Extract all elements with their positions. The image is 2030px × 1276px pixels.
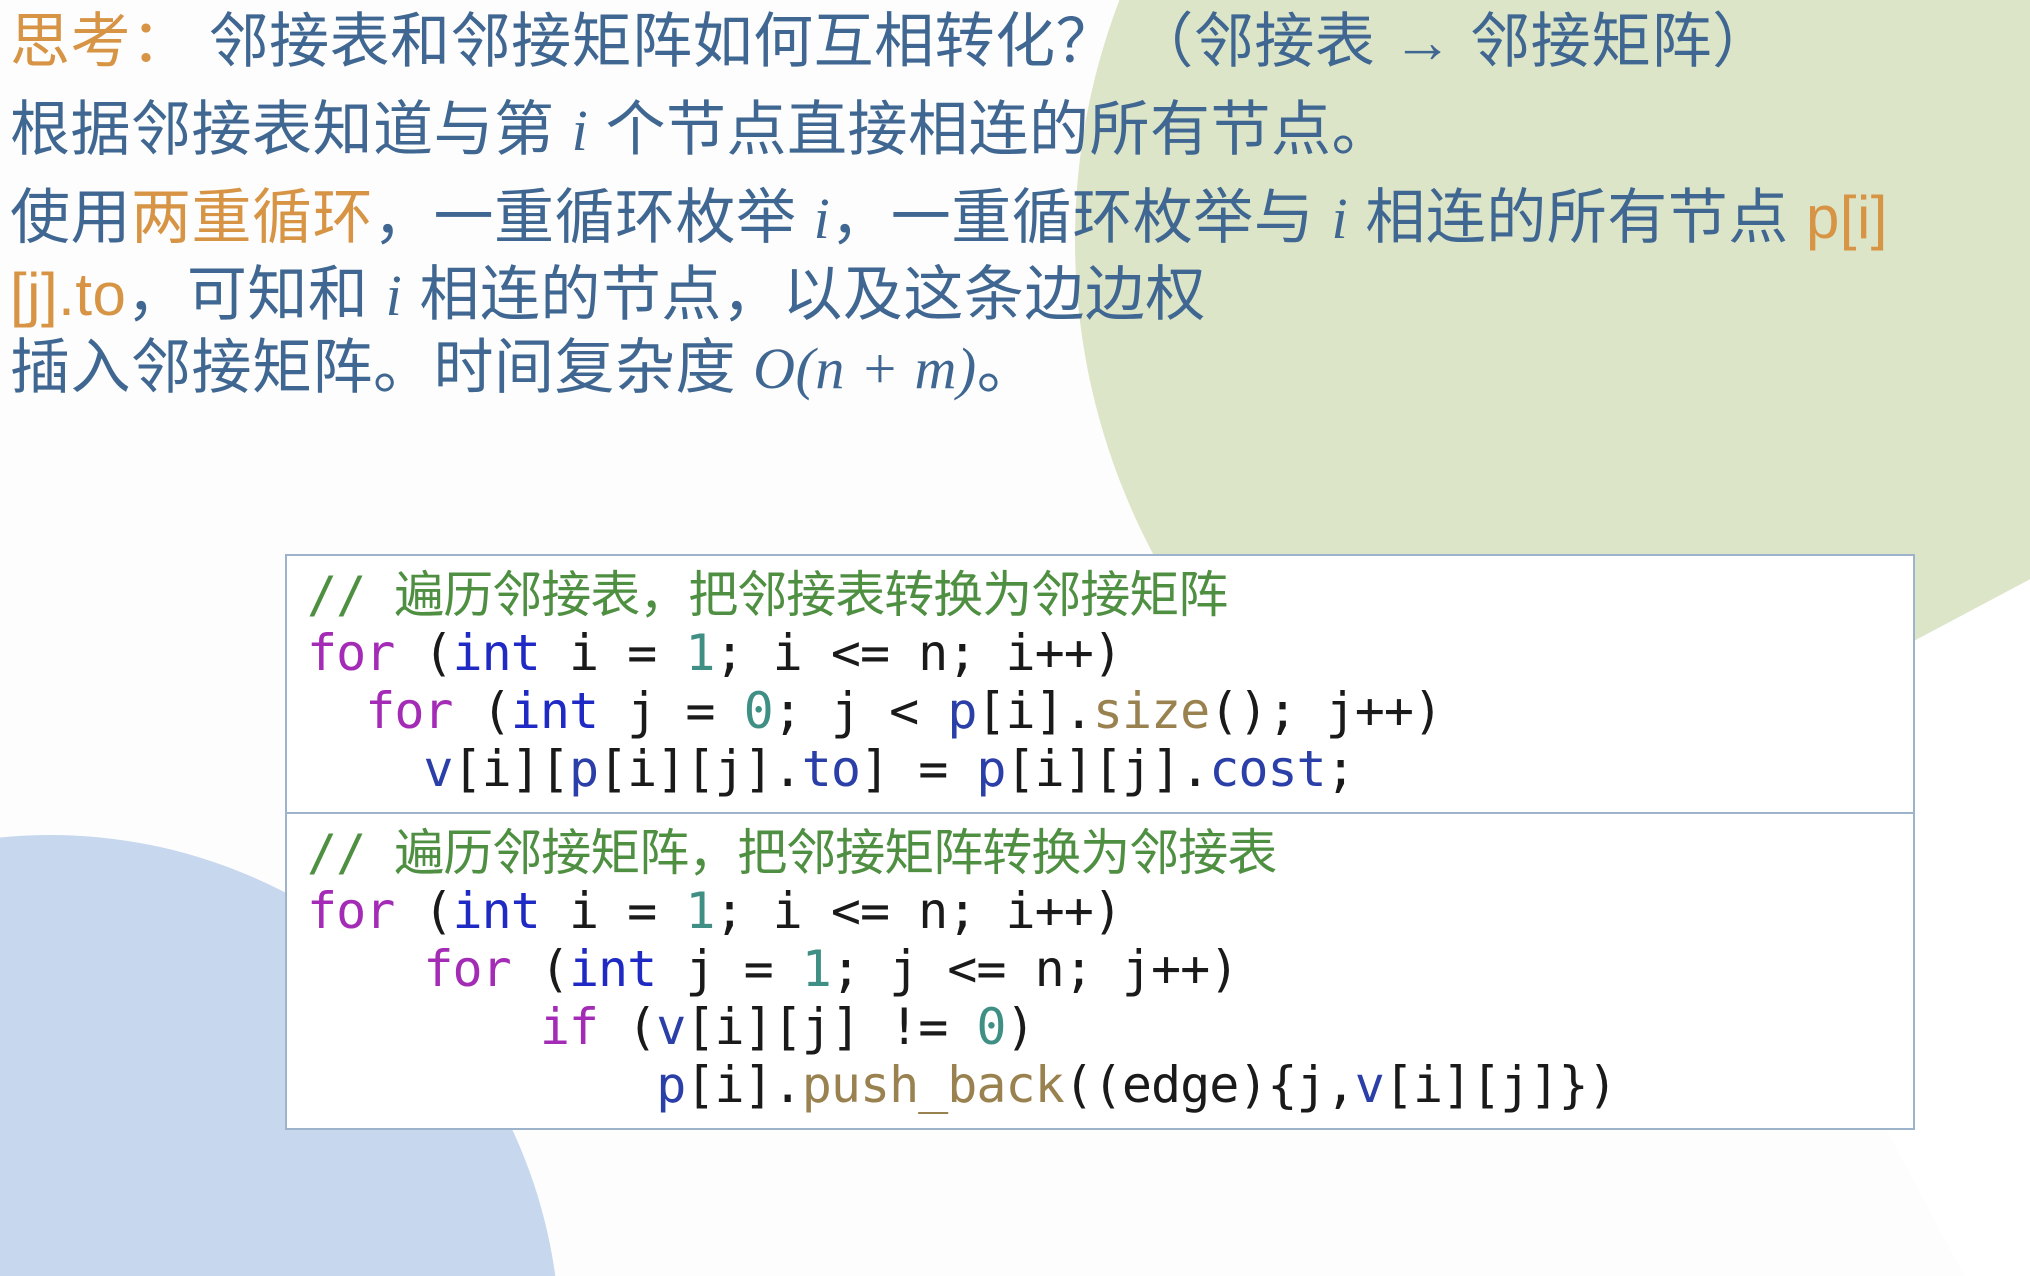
code-token-var: p bbox=[656, 1056, 685, 1114]
code-token-plain: ; i <= n; i++) bbox=[714, 624, 1121, 682]
code-token-plain: [i][j]}) bbox=[1384, 1056, 1617, 1114]
code-block-matrix-to-list: // 遍历邻接矩阵，把邻接矩阵转换为邻接表 for (int i = 1; i … bbox=[287, 812, 1913, 1128]
code-token-var: cost bbox=[1209, 740, 1325, 798]
code-token-kw: for bbox=[307, 882, 394, 940]
code-token-plain: [i][j]. bbox=[1006, 740, 1210, 798]
p3-text-d: 相连的所有节点 bbox=[1348, 184, 1806, 251]
code-line: if (v[i][j] != 0) bbox=[307, 998, 1893, 1056]
paragraph-double-loop: 使用两重循环，一重循环枚举 i，一重循环枚举与 i 相连的所有节点 p[i][j… bbox=[10, 180, 2028, 334]
p4-big-o: O(n + m) bbox=[753, 336, 977, 401]
code-token-plain bbox=[307, 682, 365, 740]
code-token-kw: for bbox=[365, 682, 452, 740]
paragraph-adjlist-info: 根据邻接表知道与第 i 个节点直接相连的所有节点。 bbox=[10, 92, 2020, 169]
code-token-plain: ; j < bbox=[773, 682, 948, 740]
code-token-var: p bbox=[947, 682, 976, 740]
code-token-plain: [i][j] != bbox=[685, 998, 976, 1056]
code-token-plain: [i]. bbox=[976, 682, 1092, 740]
code-token-var: v bbox=[1355, 1056, 1384, 1114]
paragraph-question-text: 邻接表和邻接矩阵如何互相转化？ （邻接表 → 邻接矩阵） bbox=[192, 8, 1773, 75]
code-token-var: p bbox=[569, 740, 598, 798]
p3-var-i-3: i bbox=[386, 263, 403, 328]
p2-text-b: 个节点直接相连的所有节点。 bbox=[588, 96, 1392, 163]
p3-var-i-2: i bbox=[1331, 186, 1348, 251]
p3-text-b: ，一重循环枚举 bbox=[373, 184, 814, 251]
code-token-plain: i = bbox=[540, 624, 686, 682]
code-token-plain: ( bbox=[394, 624, 452, 682]
code-lines-1: for (int i = 1; i <= n; i++) for (int j … bbox=[307, 624, 1893, 798]
code-token-plain: (); j++) bbox=[1209, 682, 1442, 740]
code-token-num: 1 bbox=[685, 882, 714, 940]
paragraph-question: 思考： 邻接表和邻接矩阵如何互相转化？ （邻接表 → 邻接矩阵） bbox=[10, 4, 2020, 81]
code-token-plain bbox=[307, 940, 423, 998]
thinking-label: 思考： bbox=[10, 8, 192, 75]
code-token-num: 1 bbox=[685, 624, 714, 682]
code-comment-2: // 遍历邻接矩阵，把邻接矩阵转换为邻接表 bbox=[307, 824, 1893, 882]
code-token-plain: [i]. bbox=[685, 1056, 801, 1114]
p2-text-a: 根据邻接表知道与第 bbox=[10, 96, 572, 163]
code-token-kw: for bbox=[423, 940, 510, 998]
code-token-var: v bbox=[656, 998, 685, 1056]
code-token-plain: [i][ bbox=[453, 740, 569, 798]
p3-var-i-1: i bbox=[814, 186, 831, 251]
code-token-num: 1 bbox=[802, 940, 831, 998]
code-token-num: 0 bbox=[744, 682, 773, 740]
p3-text-a: 使用 bbox=[10, 184, 131, 251]
code-token-var: v bbox=[423, 740, 452, 798]
code-line: p[i].push_back((edge){j,v[i][j]}) bbox=[307, 1056, 1893, 1114]
code-token-var: to bbox=[802, 740, 860, 798]
code-token-type: int bbox=[453, 882, 540, 940]
code-token-plain bbox=[307, 740, 423, 798]
code-token-plain: ; bbox=[1326, 740, 1355, 798]
code-token-plain bbox=[307, 1056, 656, 1114]
p3-text-f: 相连的节点，以及这条边边权 bbox=[402, 261, 1206, 328]
code-token-kw: if bbox=[540, 998, 598, 1056]
code-box: // 遍历邻接表，把邻接表转换为邻接矩阵 for (int i = 1; i <… bbox=[285, 554, 1915, 1130]
code-token-type: int bbox=[453, 624, 540, 682]
code-token-num: 0 bbox=[976, 998, 1005, 1056]
code-token-plain: ( bbox=[511, 940, 569, 998]
p3-text-c: ，一重循环枚举与 bbox=[830, 184, 1331, 251]
code-token-type: int bbox=[511, 682, 598, 740]
p2-var-i: i bbox=[572, 98, 589, 163]
code-token-kw: for bbox=[307, 624, 394, 682]
code-token-plain: ] = bbox=[860, 740, 976, 798]
code-line: for (int i = 1; i <= n; i++) bbox=[307, 882, 1893, 940]
code-token-plain: j = bbox=[598, 682, 744, 740]
code-token-plain: ( bbox=[453, 682, 511, 740]
p3-text-e: ，可知和 bbox=[126, 261, 385, 328]
code-token-plain: [i][j]. bbox=[598, 740, 802, 798]
code-token-plain bbox=[307, 998, 540, 1056]
code-comment-1: // 遍历邻接表，把邻接表转换为邻接矩阵 bbox=[307, 566, 1893, 624]
code-token-var: p bbox=[976, 740, 1005, 798]
p4-text-b: 。 bbox=[977, 334, 1038, 401]
code-token-type: int bbox=[569, 940, 656, 998]
code-token-plain: i = bbox=[540, 882, 686, 940]
code-token-plain: ( bbox=[394, 882, 452, 940]
code-token-plain: ; j <= n; j++) bbox=[831, 940, 1238, 998]
p4-text-a: 插入邻接矩阵。时间复杂度 bbox=[10, 334, 753, 401]
code-token-plain: ((edge){j, bbox=[1064, 1056, 1355, 1114]
code-line: for (int j = 0; j < p[i].size(); j++) bbox=[307, 682, 1893, 740]
code-token-plain: ( bbox=[598, 998, 656, 1056]
code-line: for (int i = 1; i <= n; i++) bbox=[307, 624, 1893, 682]
code-token-fn: size bbox=[1093, 682, 1209, 740]
p3-highlight-double-loop: 两重循环 bbox=[131, 184, 373, 251]
code-line: for (int j = 1; j <= n; j++) bbox=[307, 940, 1893, 998]
code-token-plain: j = bbox=[656, 940, 802, 998]
slide-canvas: 思考： 邻接表和邻接矩阵如何互相转化？ （邻接表 → 邻接矩阵） 根据邻接表知道… bbox=[0, 0, 2030, 1276]
paragraph-complexity: 插入邻接矩阵。时间复杂度 O(n + m)。 bbox=[10, 330, 2020, 407]
code-line: v[i][p[i][j].to] = p[i][j].cost; bbox=[307, 740, 1893, 798]
code-lines-2: for (int i = 1; i <= n; i++) for (int j … bbox=[307, 882, 1893, 1114]
code-block-list-to-matrix: // 遍历邻接表，把邻接表转换为邻接矩阵 for (int i = 1; i <… bbox=[287, 556, 1913, 812]
code-token-plain: ; i <= n; i++) bbox=[714, 882, 1121, 940]
code-token-fn: push_back bbox=[802, 1056, 1064, 1114]
code-token-plain: ) bbox=[1006, 998, 1035, 1056]
